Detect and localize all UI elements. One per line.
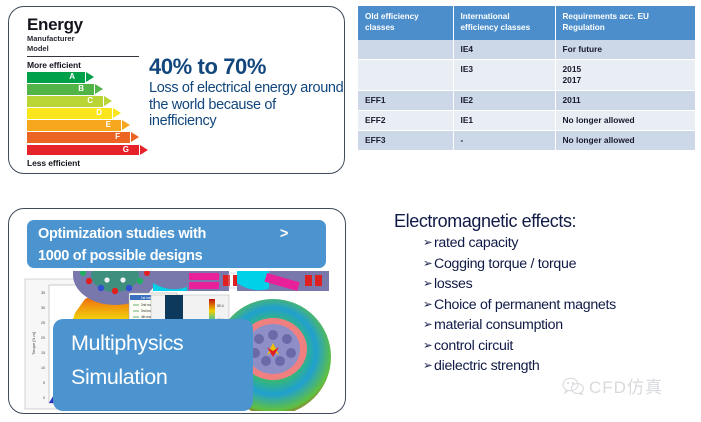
table-cell: For future: [555, 40, 695, 60]
table-row: IE4For future: [358, 40, 695, 60]
efficiency-bar-a: A: [27, 72, 139, 83]
bar-fill: C: [27, 96, 103, 107]
list-item-label: material consumption: [434, 317, 563, 333]
optimization-marker: >: [280, 223, 288, 245]
table-cell: 2011: [555, 91, 695, 111]
table-cell: [358, 40, 453, 60]
bar-fill: E: [27, 120, 121, 131]
efficiency-bar-b: B: [27, 84, 139, 95]
multiphysics-simulation-card: 353025 201510 50 Torque [N.m]: [8, 208, 346, 414]
watermark-text: CFD仿真: [589, 373, 663, 398]
svg-text:35: 35: [41, 291, 45, 295]
list-item-label: Cogging torque / torque: [434, 256, 576, 272]
list-item-label: Choice of permanent magnets: [434, 297, 616, 313]
table-header-row: Old efficiency classesInternational effi…: [358, 6, 695, 40]
efficiency-bar-chart: ABCDEFG: [27, 72, 139, 155]
multiphysics-line-1: Multiphysics: [71, 326, 253, 360]
optimization-line-1: Optimization studies with: [38, 223, 316, 245]
efficiency-bar-d: D: [27, 108, 139, 119]
arrow-bullet-icon: ➢: [423, 356, 432, 377]
bar-arrow-tip: [113, 108, 121, 118]
svg-text:30: 30: [41, 306, 45, 310]
table-cell: -: [453, 131, 555, 151]
table-row: IE32015 2017: [358, 60, 695, 91]
bar-fill: D: [27, 108, 112, 119]
svg-text:10: 10: [41, 366, 45, 370]
arrow-bullet-icon: ➢: [423, 315, 432, 336]
multiphysics-simulation-banner: Multiphysics Simulation: [53, 319, 253, 411]
table-row: EFF2IE1No longer allowed: [358, 111, 695, 131]
list-item: ➢losses: [423, 274, 694, 295]
table-cell: IE1: [453, 111, 555, 131]
electromagnetic-effects-block: Electromagnetic effects: ➢rated capacity…: [394, 210, 694, 377]
list-item-label: losses: [434, 276, 472, 292]
bar-arrow-tip: [95, 84, 103, 94]
svg-text:0: 0: [43, 396, 45, 400]
efficiency-classes-table: Old efficiency classesInternational effi…: [358, 6, 695, 151]
bar-letter: C: [87, 96, 93, 107]
optimization-studies-banner: > Optimization studies with 1000 of poss…: [27, 220, 326, 268]
headline-description: Loss of electrical energy around the wor…: [149, 80, 345, 130]
table-cell: No longer allowed: [555, 111, 695, 131]
svg-text:25: 25: [41, 321, 45, 325]
watermark: CFD仿真: [562, 373, 663, 398]
headline-block: 40% to 70% Loss of electrical energy aro…: [149, 55, 345, 130]
bar-fill: G: [27, 145, 139, 156]
electromagnetic-effects-title: Electromagnetic effects:: [394, 210, 694, 232]
bar-fill: B: [27, 84, 94, 95]
bar-arrow-tip: [86, 72, 94, 82]
list-item-label: dielectric strength: [434, 358, 540, 374]
bar-letter: G: [123, 145, 129, 156]
list-item: ➢rated capacity: [423, 233, 694, 254]
svg-text:15: 15: [41, 351, 45, 355]
bar-fill: A: [27, 72, 85, 83]
multiphysics-line-2: Simulation: [71, 360, 253, 394]
bar-letter: E: [106, 120, 111, 131]
arrow-bullet-icon: ➢: [423, 254, 432, 275]
table-cell: IE2: [453, 91, 555, 111]
svg-text:20: 20: [41, 336, 45, 340]
wechat-icon: [562, 377, 584, 395]
arrow-bullet-icon: ➢: [423, 233, 432, 254]
svg-text:Torque [N.m]: Torque [N.m]: [31, 332, 36, 355]
efficiency-bar-g: G: [27, 145, 139, 156]
svg-text:89.4: 89.4: [217, 304, 224, 308]
table-cell: EFF3: [358, 131, 453, 151]
energy-label-title: Energy: [27, 15, 139, 34]
bar-arrow-tip: [104, 96, 112, 106]
efficiency-bar-e: E: [27, 120, 139, 131]
bar-letter: B: [78, 84, 84, 95]
bar-letter: A: [69, 72, 75, 83]
energy-label-graphic: Energy Manufacturer Model More efficient…: [27, 15, 139, 170]
arrow-bullet-icon: ➢: [423, 295, 432, 316]
bar-letter: D: [96, 108, 102, 119]
energy-label-model: Model: [27, 44, 139, 54]
list-item: ➢Choice of permanent magnets: [423, 295, 694, 316]
list-item-label: rated capacity: [434, 235, 518, 251]
less-efficient-label: Less efficient: [27, 155, 139, 170]
headline-percentage: 40% to 70%: [149, 55, 345, 79]
svg-text:5: 5: [43, 381, 45, 385]
table-row: EFF3-No longer allowed: [358, 131, 695, 151]
slide-canvas: Energy Manufacturer Model More efficient…: [0, 0, 701, 422]
optimization-line-2: 1000 of possible designs: [38, 245, 316, 267]
table-column-header: Old efficiency classes: [358, 6, 453, 40]
bar-letter: F: [115, 132, 120, 143]
electromagnetic-effects-list: ➢rated capacity➢Cogging torque / torque➢…: [394, 233, 694, 377]
table-body: IE4For futureIE32015 2017EFF1IE22011EFF2…: [358, 40, 695, 151]
table-cell: [358, 60, 453, 91]
list-item: ➢dielectric strength: [423, 356, 694, 377]
table-cell: IE4: [453, 40, 555, 60]
list-item-label: control circuit: [434, 338, 513, 354]
efficiency-bar-c: C: [27, 96, 139, 107]
energy-label-manufacturer: Manufacturer: [27, 34, 139, 44]
bar-arrow-tip: [122, 120, 130, 130]
bar-fill: F: [27, 132, 130, 143]
bar-arrow-tip: [140, 145, 148, 155]
table-column-header: Requirements acc. EU Regulation: [555, 6, 695, 40]
arrow-bullet-icon: ➢: [423, 274, 432, 295]
more-efficient-label: More efficient: [27, 57, 139, 72]
efficiency-bar-f: F: [27, 132, 139, 143]
table-cell: EFF1: [358, 91, 453, 111]
table-cell: No longer allowed: [555, 131, 695, 151]
energy-efficiency-card: Energy Manufacturer Model More efficient…: [8, 6, 345, 174]
list-item: ➢Cogging torque / torque: [423, 254, 694, 275]
arrow-bullet-icon: ➢: [423, 336, 432, 357]
bar-arrow-tip: [131, 132, 139, 142]
table-cell: IE3: [453, 60, 555, 91]
table-column-header: International efficiency classes: [453, 6, 555, 40]
list-item: ➢control circuit: [423, 336, 694, 357]
list-item: ➢material consumption: [423, 315, 694, 336]
table-row: EFF1IE22011: [358, 91, 695, 111]
table-cell: EFF2: [358, 111, 453, 131]
table-cell: 2015 2017: [555, 60, 695, 91]
